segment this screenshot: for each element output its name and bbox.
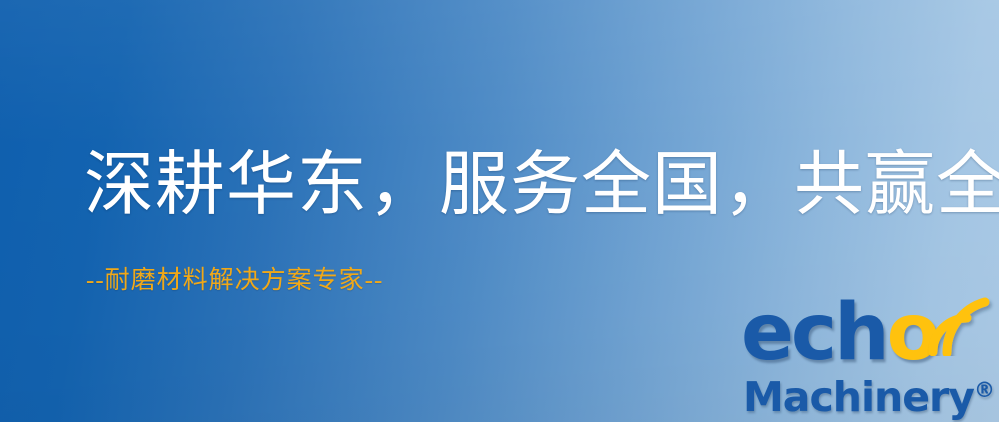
banner-headline: 深耕华东，服务全国，共赢全球: [84, 146, 999, 226]
banner-subheadline: --耐磨材料解决方案专家--: [86, 266, 383, 296]
logo-wordmark: echo: [741, 294, 937, 372]
logo-mark: echo: [737, 292, 995, 374]
logo-word-ech: ech: [741, 288, 887, 378]
logo-tagline: Machinery®: [743, 368, 995, 419]
hero-banner: 深耕华东，服务全国，共赢全球 --耐磨材料解决方案专家-- echo Machi…: [0, 0, 999, 422]
signal-waves-icon: [923, 290, 997, 356]
company-logo[interactable]: echo Machinery®: [737, 292, 995, 420]
registered-trademark-icon: ®: [974, 378, 995, 402]
logo-tagline-text: Machinery: [743, 373, 974, 421]
